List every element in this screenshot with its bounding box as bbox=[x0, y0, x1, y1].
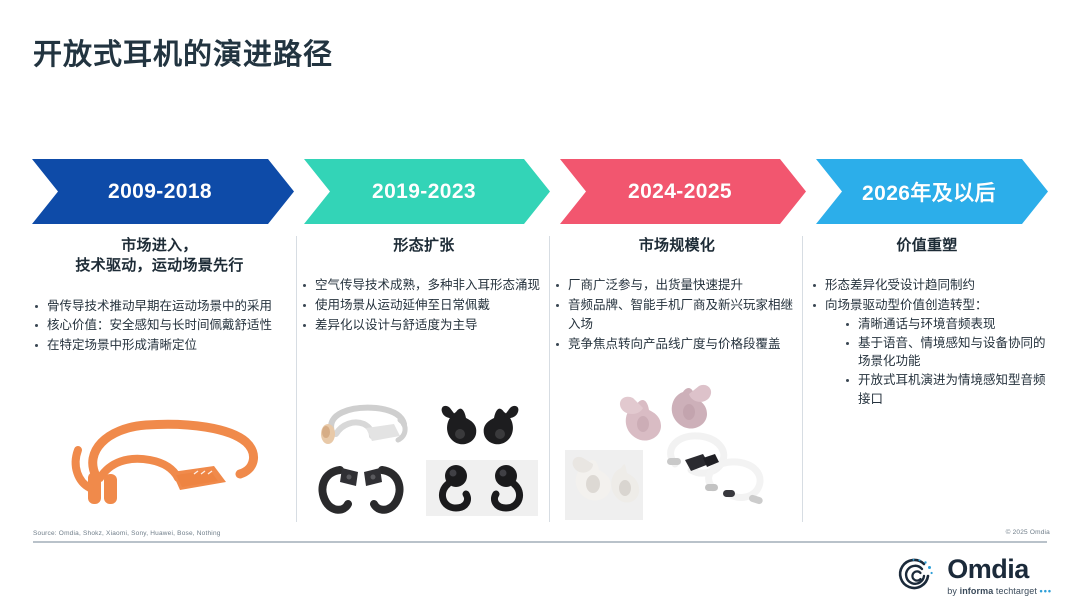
omdia-byline: by informa techtarget ••• bbox=[947, 586, 1052, 596]
phase-sub-bullets-4: 清晰通话与环境音频表现 基于语音、情境感知与设备协同的场景化功能 开放式耳机演进… bbox=[825, 315, 1048, 409]
sub-bullet-item: 开放式耳机演进为情境感知型音频接口 bbox=[843, 371, 1048, 409]
phase-heading-1-line2: 技术驱动，运动场景先行 bbox=[75, 257, 243, 274]
bullet-item: 差异化以设计与舒适度为主导 bbox=[300, 316, 548, 335]
phase-heading-3: 市场规模化 bbox=[553, 236, 801, 256]
phase-heading-1-line1: 市场进入， bbox=[121, 237, 198, 254]
column-divider-1 bbox=[296, 236, 297, 522]
sub-bullet-item: 基于语音、情境感知与设备协同的场景化功能 bbox=[843, 334, 1048, 372]
byline-informa: informa bbox=[960, 586, 994, 596]
phase-column-1: 市场进入， 技术驱动，运动场景先行 骨传导技术推动早期在运动场景中的采用 核心价… bbox=[32, 236, 287, 524]
bullet-item: 核心价值：安全感知与长时间佩戴舒适性 bbox=[32, 316, 287, 335]
product-image-group-phase3 bbox=[563, 372, 793, 522]
omdia-name: Omdia bbox=[947, 556, 1052, 583]
timeline-label-2: 2019-2023 bbox=[304, 180, 550, 204]
timeline-arrow-2019-2023[interactable]: 2019-2023 bbox=[304, 159, 550, 224]
bullet-item: 形态差异化受设计趋同制约 bbox=[810, 276, 1048, 295]
phase-bullets-2: 空气传导技术成熟，多种非入耳形态涌现 使用场景从运动延伸至日常佩戴 差异化以设计… bbox=[300, 276, 548, 334]
phase-bullets-1: 骨传导技术推动早期在运动场景中的采用 核心价值：安全感知与长时间佩戴舒适性 在特… bbox=[32, 297, 287, 355]
product-image-bone-conduction-headset bbox=[54, 412, 266, 512]
phase-column-4: 价值重塑 形态差异化受设计趋同制约 向场景驱动型价值创造转型： 清晰通话与环境音… bbox=[806, 236, 1048, 524]
timeline-label-3: 2024-2025 bbox=[560, 180, 806, 204]
phase-columns: 市场进入， 技术驱动，运动场景先行 骨传导技术推动早期在运动场景中的采用 核心价… bbox=[32, 236, 1048, 524]
timeline-arrow-2009-2018[interactable]: 2009-2018 bbox=[32, 159, 294, 224]
bullet-item: 骨传导技术推动早期在运动场景中的采用 bbox=[32, 297, 287, 316]
source-note: Source: Omdia, Shokz, Xiaomi, Sony, Huaw… bbox=[33, 530, 221, 537]
phase-heading-2: 形态扩张 bbox=[300, 236, 548, 256]
product-image-black-open-wearable-stereo bbox=[306, 460, 418, 516]
product-image-black-ear-cuff-buds bbox=[426, 460, 538, 516]
bullet-item: 使用场景从运动延伸至日常佩戴 bbox=[300, 296, 548, 315]
bullet-item: 在特定场景中形成清晰定位 bbox=[32, 336, 287, 355]
omdia-wordmark: Omdia by informa techtarget ••• bbox=[947, 556, 1052, 596]
phase-heading-1: 市场进入， 技术驱动，运动场景先行 bbox=[32, 236, 287, 277]
timeline-label-4: 2026年及以后 bbox=[816, 177, 1048, 207]
bullet-item: 厂商广泛参与，出货量快速提升 bbox=[553, 276, 801, 295]
footer-rule bbox=[33, 541, 1047, 543]
phase-bullets-4: 形态差异化受设计趋同制约 向场景驱动型价值创造转型： 清晰通话与环境音频表现 基… bbox=[806, 276, 1048, 408]
timeline-label-1: 2009-2018 bbox=[32, 180, 294, 204]
column-divider-2 bbox=[549, 236, 550, 522]
byline-prefix: by bbox=[947, 586, 959, 596]
phase-column-2: 形态扩张 空气传导技术成熟，多种非入耳形态涌现 使用场景从运动延伸至日常佩戴 差… bbox=[300, 236, 548, 524]
copyright-note: © 2025 Omdia bbox=[1006, 529, 1050, 536]
phase-heading-4: 价值重塑 bbox=[806, 236, 1048, 256]
timeline-arrow-band: 2009-2018 2019-2023 2024-2025 2026年及以后 bbox=[32, 159, 1048, 224]
column-divider-3 bbox=[802, 236, 803, 522]
phase-bullets-3: 厂商广泛参与，出货量快速提升 音频品牌、智能手机厂商及新兴玩家相继入场 竞争焦点… bbox=[553, 276, 801, 353]
bullet-item-label: 向场景驱动型价值创造转型： bbox=[825, 298, 988, 312]
page-title: 开放式耳机的演进路径 bbox=[33, 31, 333, 73]
byline-techtarget: techtarget bbox=[993, 586, 1037, 596]
sub-bullet-item: 清晰通话与环境音频表现 bbox=[843, 315, 1048, 334]
bullet-item: 向场景驱动型价值创造转型： 清晰通话与环境音频表现 基于语音、情境感知与设备协同… bbox=[810, 296, 1048, 409]
timeline-arrow-2026-onward[interactable]: 2026年及以后 bbox=[816, 159, 1048, 224]
byline-dots: ••• bbox=[1040, 586, 1052, 596]
product-image-black-clip-earbuds bbox=[426, 398, 538, 454]
omdia-swirl-icon bbox=[894, 554, 938, 598]
slide-root: 开放式耳机的演进路径 2009-2018 2019-2023 2024-2025… bbox=[0, 0, 1080, 608]
product-image-grid-phase2 bbox=[306, 398, 542, 518]
omdia-logo: Omdia by informa techtarget ••• bbox=[894, 551, 1052, 601]
bullet-item: 空气传导技术成熟，多种非入耳形态涌现 bbox=[300, 276, 548, 295]
timeline-arrow-2024-2025[interactable]: 2024-2025 bbox=[560, 159, 806, 224]
phase-column-3: 市场规模化 厂商广泛参与，出货量快速提升 音频品牌、智能手机厂商及新兴玩家相继入… bbox=[553, 236, 801, 524]
bullet-item: 竞争焦点转向产品线广度与价格段覆盖 bbox=[553, 335, 801, 354]
product-image-white-open-ear-headset bbox=[306, 398, 418, 454]
bullet-item: 音频品牌、智能手机厂商及新兴玩家相继入场 bbox=[553, 296, 801, 334]
